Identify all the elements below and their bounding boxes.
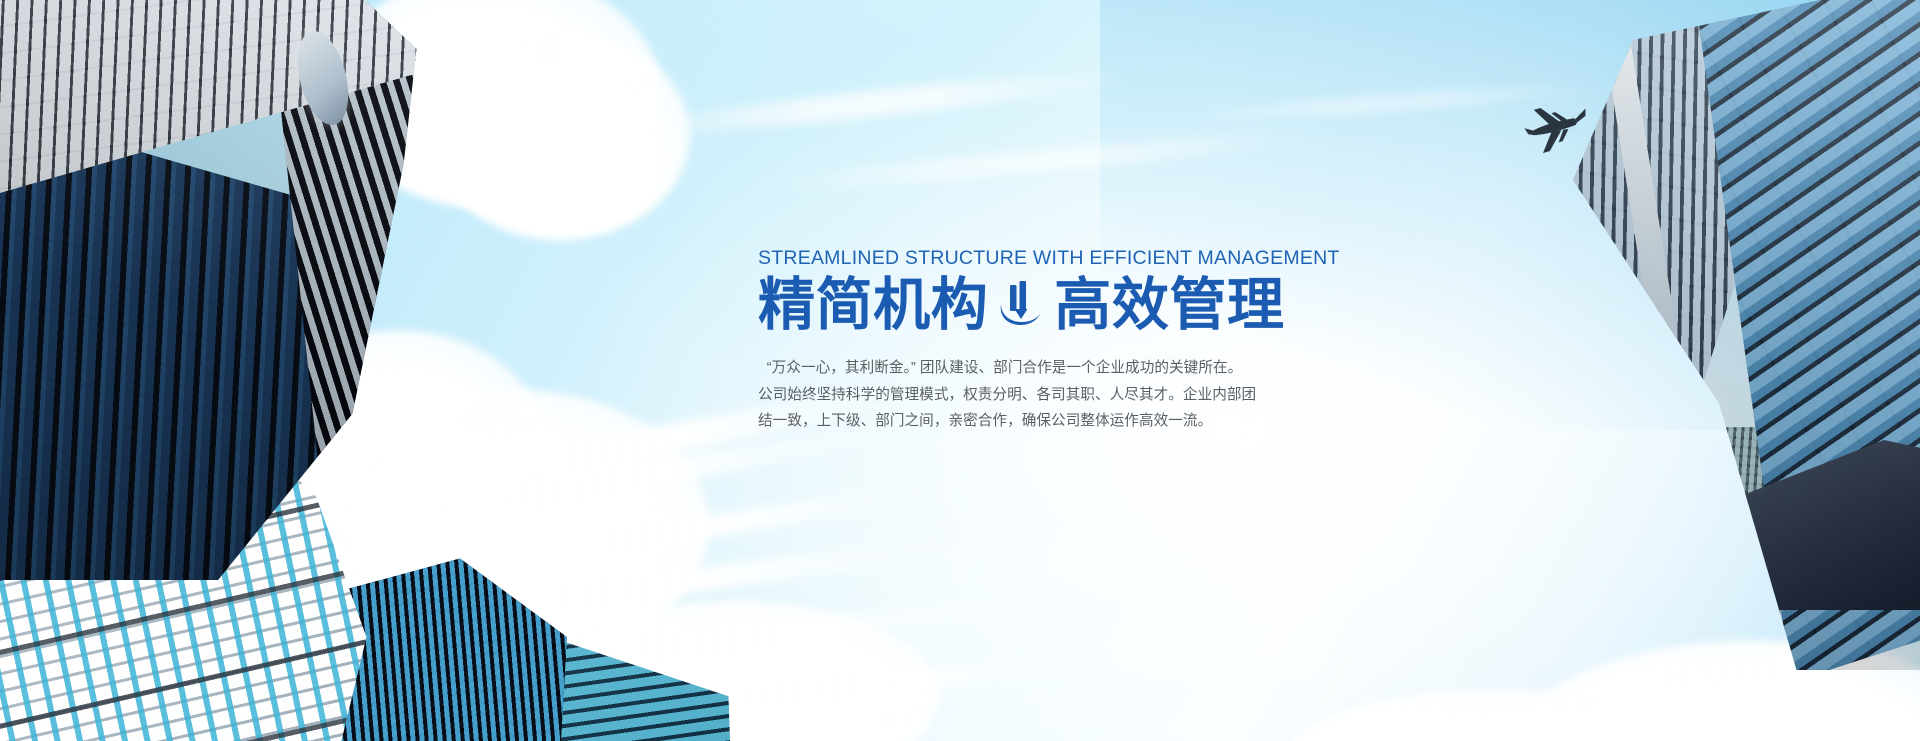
paragraph-line: 结一致，上下级、部门之间，亲密合作，确保公司整体运作高效一流。	[758, 408, 1298, 435]
banner-copy: STREAMLINED STRUCTURE WITH EFFICIENT MAN…	[758, 248, 1298, 435]
banner-hero: STREAMLINED STRUCTURE WITH EFFICIENT MAN…	[0, 0, 1920, 741]
headline-left: 精简机构	[758, 274, 988, 338]
airplane-icon	[1518, 100, 1598, 158]
company-logo-mark-icon	[998, 281, 1044, 331]
banner-paragraph: “万众一心，其利断金。” 团队建设、部门合作是一个企业成功的关键所在。 公司始终…	[758, 355, 1298, 435]
page-title: 精简机构 高效管理	[758, 274, 1298, 338]
paragraph-line: “万众一心，其利断金。” 团队建设、部门合作是一个企业成功的关键所在。	[758, 355, 1298, 382]
paragraph-line: 公司始终坚持科学的管理模式，权责分明、各司其职、人尽其才。企业内部团	[758, 382, 1298, 409]
banner-eyebrow: STREAMLINED STRUCTURE WITH EFFICIENT MAN…	[758, 248, 1298, 269]
headline-right: 高效管理	[1054, 274, 1284, 338]
